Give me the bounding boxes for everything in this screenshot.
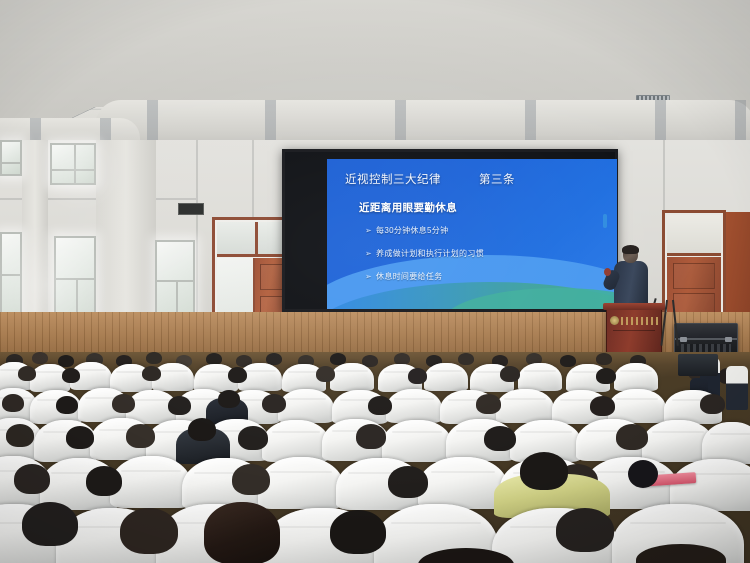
presentation-slide: 近视控制三大纪律 第三条 近距离用眼要勤休息 ➢每30分钟休息5分钟 ➢养成做计… <box>327 159 617 309</box>
bullet-marker-icon: ➢ <box>365 272 372 281</box>
lectern-nameplate <box>621 317 658 325</box>
presenter <box>611 246 651 310</box>
projection-screen: 近视控制三大纪律 第三条 近距离用眼要勤休息 ➢每30分钟休息5分钟 ➢养成做计… <box>282 149 618 312</box>
lecture-hall-photo: 近视控制三大纪律 第三条 近距离用眼要勤休息 ➢每30分钟休息5分钟 ➢养成做计… <box>0 0 750 563</box>
slide-title: 近视控制三大纪律 <box>345 171 441 187</box>
standing-attendee <box>726 366 748 410</box>
ceiling <box>0 0 750 152</box>
bullet-marker-icon: ➢ <box>365 249 372 258</box>
attendee-head <box>520 452 568 490</box>
slide-bullet-3: ➢休息时间要给任务 <box>365 271 442 282</box>
clerestory-window <box>0 140 22 176</box>
attendee-head <box>204 502 280 563</box>
screen-status-indicator-icon <box>603 214 607 228</box>
bullet-marker-icon: ➢ <box>365 226 372 235</box>
attendee-head <box>628 460 658 488</box>
lectern-emblem-icon <box>610 316 619 325</box>
slide-section-label: 第三条 <box>479 171 515 187</box>
slide-bullet-2: ➢养成做计划和执行计划的习惯 <box>365 248 484 259</box>
side-equipment <box>678 354 718 376</box>
exit-sign-icon <box>178 203 204 215</box>
slide-bullet-1: ➢每30分钟休息5分钟 <box>365 225 448 236</box>
clerestory-window <box>50 143 96 185</box>
slide-heading: 近距离用眼要勤休息 <box>359 200 457 215</box>
audience-seating <box>0 352 750 563</box>
